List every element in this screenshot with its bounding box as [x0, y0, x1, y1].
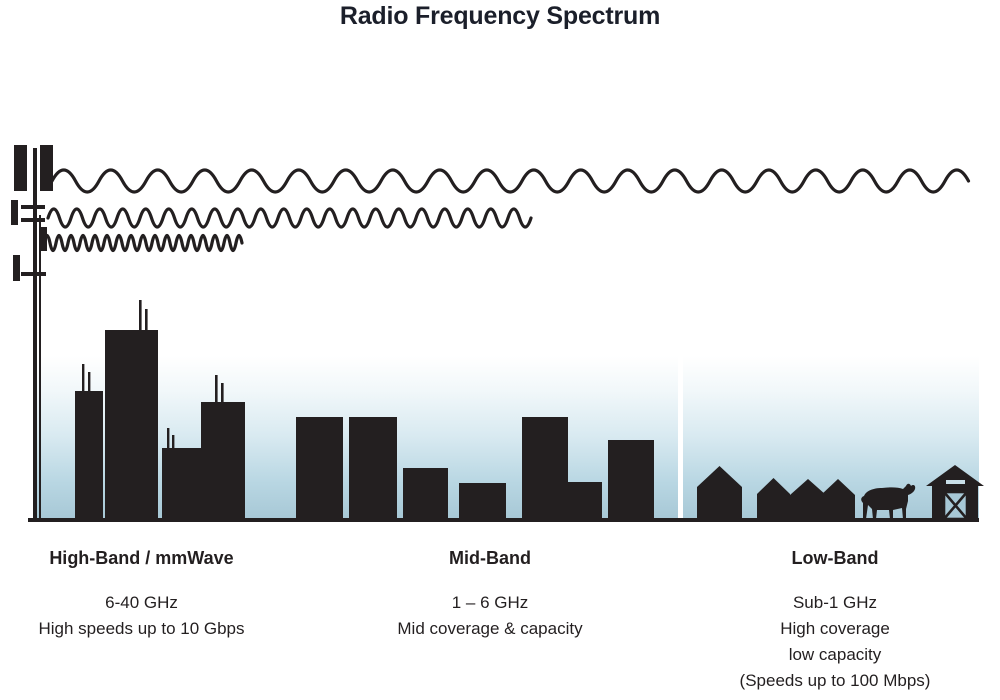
building [75, 391, 103, 519]
mid-frequency-wave [48, 209, 531, 227]
house [757, 478, 790, 519]
house [790, 479, 826, 519]
band-title-low: Low-Band [680, 548, 990, 569]
band-detail-low-1: High coverage [680, 616, 990, 642]
building-antenna [167, 428, 169, 449]
band-frequency-low: Sub-1 GHz [680, 590, 990, 616]
building [162, 448, 201, 519]
house [697, 466, 742, 519]
band-caption-mid: Mid-Band 1 – 6 GHz Mid coverage & capaci… [330, 548, 650, 642]
building [201, 402, 245, 519]
building [568, 482, 602, 519]
band-title-high: High-Band / mmWave [0, 548, 283, 569]
barn-gable-window [946, 480, 965, 484]
band-frequency-high: 6-40 GHz [0, 590, 283, 616]
band-detail-mid-1: Mid coverage & capacity [330, 616, 650, 642]
building [459, 483, 506, 519]
high-frequency-wave [44, 236, 242, 251]
band-caption-low: Low-Band Sub-1 GHz High coverage low cap… [680, 548, 990, 694]
band-detail-high-1: High speeds up to 10 Gbps [0, 616, 283, 642]
band-title-mid: Mid-Band [330, 548, 650, 569]
building-antenna [215, 375, 218, 403]
building [522, 417, 568, 519]
building-antenna [172, 435, 174, 449]
house [821, 479, 855, 519]
building [608, 440, 654, 519]
band-detail-low-2: low capacity [680, 642, 990, 668]
building-antenna [221, 383, 224, 403]
building-antenna [82, 364, 84, 392]
building [349, 417, 397, 519]
high-band-skyline [75, 300, 245, 519]
band-caption-high: High-Band / mmWave 6-40 GHz High speeds … [0, 548, 283, 642]
building [105, 330, 158, 519]
mid-band-skyline [296, 417, 654, 519]
low-frequency-wave [52, 170, 969, 192]
building-antenna [139, 300, 142, 331]
low-band-rural-scene [697, 465, 984, 519]
infographic-canvas: Radio Frequency Spectrum [0, 0, 1000, 700]
building-antenna [145, 309, 148, 331]
building [403, 468, 448, 519]
building [296, 417, 343, 519]
band-detail-low-3: (Speeds up to 100 Mbps) [680, 668, 990, 694]
building-antenna [88, 372, 90, 392]
cow [861, 484, 915, 519]
band-frequency-mid: 1 – 6 GHz [330, 590, 650, 616]
